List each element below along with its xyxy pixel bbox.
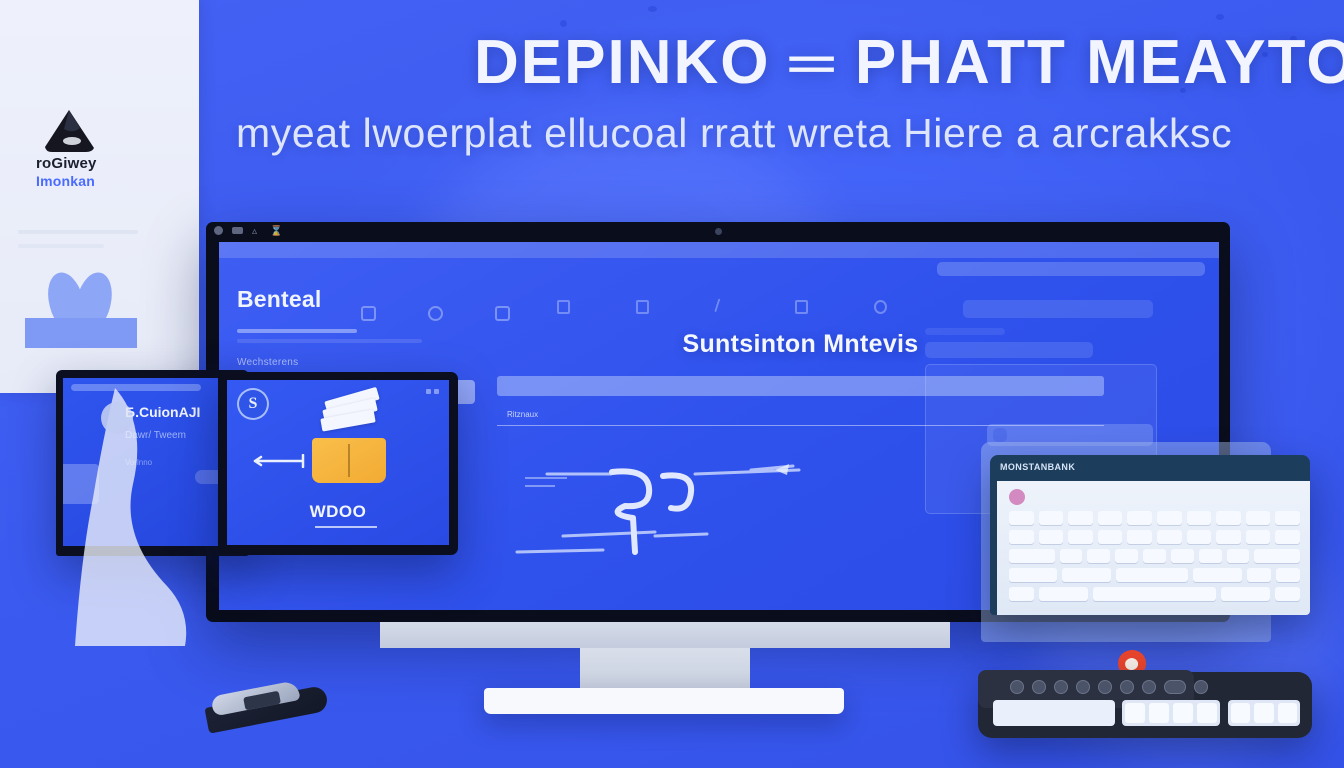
right-window[interactable]: MONSTANBANK (990, 455, 1310, 615)
status-badge (1009, 489, 1025, 505)
slash-icon[interactable] (714, 298, 731, 315)
tablet-label: WDOO (227, 502, 449, 522)
webcam-icon (715, 228, 722, 235)
decorative-sweep (75, 388, 225, 648)
oval-icon[interactable] (1164, 680, 1186, 694)
clock-icon[interactable] (428, 306, 443, 321)
brand-logo[interactable]: roGiwey Imonkan (36, 108, 166, 189)
window-controls[interactable]: ▵ ⌛ (214, 226, 279, 235)
background-speck (1216, 14, 1224, 20)
link-icon[interactable] (874, 300, 887, 314)
background-speck (648, 6, 657, 12)
potted-plant-icon (25, 270, 137, 342)
left-app-toolbar[interactable] (361, 306, 510, 321)
sidebar-divider (18, 244, 104, 248)
filter-icon[interactable] (795, 300, 808, 314)
rounded-rect-icon[interactable] (232, 227, 243, 234)
tablet-screen: S WDOO (227, 380, 449, 545)
right-window-title: MONSTANBANK (990, 455, 1310, 472)
background-speck (560, 20, 567, 27)
left-app-subtitle: Wechsterens (237, 357, 475, 368)
tablet-underline (315, 526, 377, 528)
panel-block (963, 300, 1153, 318)
tablet-device: S WDOO (218, 372, 458, 555)
pin-icon[interactable] (636, 300, 649, 314)
panel-block (937, 262, 1205, 276)
headline-secondary: myeat lwoerplat ellucoal rratt wreta Hie… (236, 111, 1344, 156)
sidebar-divider (18, 230, 138, 234)
orange-card-icon (312, 438, 386, 483)
panel-block (925, 328, 1005, 335)
arrow-left-icon (253, 454, 307, 468)
grid-dots-icon[interactable] (426, 389, 439, 394)
decorative-line (237, 329, 357, 333)
hero-headline-block: DEPINKO ═ PHATT MEAYTOV. myeat lwoerplat… (236, 30, 1344, 156)
panel-block (925, 342, 1093, 358)
circle-s-logo-icon: S (237, 388, 269, 420)
center-row-label: Ritznaux (497, 410, 538, 419)
brand-subname: Imonkan (36, 173, 166, 189)
decorative-line (237, 339, 422, 343)
center-app-toolbar[interactable] (557, 300, 887, 314)
mountain-triangle-icon (42, 108, 98, 154)
right-window-body (997, 481, 1310, 615)
bell-icon[interactable] (1098, 680, 1112, 694)
computer-mouse-icon (202, 670, 334, 739)
hero-illustration: roGiwey Imonkan DEPINKO ═ PHATT MEAYTOV.… (0, 0, 1344, 768)
split-icon[interactable] (1032, 680, 1046, 694)
logo-letter: S (249, 395, 258, 413)
monitor-neck (580, 648, 750, 692)
spacebar-tray[interactable] (993, 700, 1115, 726)
hourglass-icon[interactable]: ⌛ (270, 226, 279, 235)
headline-primary: DEPINKO ═ PHATT MEAYTOV. (236, 30, 1344, 95)
key-tray-middle[interactable] (1122, 700, 1220, 726)
grid-icon[interactable] (557, 300, 570, 314)
monitor-base (484, 688, 844, 714)
headphone-icon[interactable] (1076, 680, 1090, 694)
power-icon[interactable] (1010, 680, 1024, 694)
panel-block (993, 428, 1007, 442)
circle-dot-icon[interactable] (214, 226, 223, 235)
video-icon[interactable] (361, 306, 376, 321)
circle-icon[interactable] (1194, 680, 1208, 694)
stacked-papers-icon (321, 394, 379, 434)
stop-icon[interactable] (1120, 680, 1134, 694)
screen-topbar (219, 242, 1219, 258)
decorative-squiggle (507, 444, 927, 564)
forward-icon[interactable] (1054, 680, 1068, 694)
monitor-chin (380, 622, 950, 648)
cursor-icon[interactable]: ▵ (252, 226, 261, 235)
left-sidebar-panel: roGiwey Imonkan (0, 0, 199, 393)
console-button-row[interactable] (1010, 680, 1208, 694)
brand-name: roGiwey (36, 155, 166, 172)
link-icon[interactable] (1142, 680, 1156, 694)
key-tray-right[interactable] (1228, 700, 1300, 726)
keyboard-grid-icon[interactable] (1009, 511, 1300, 601)
